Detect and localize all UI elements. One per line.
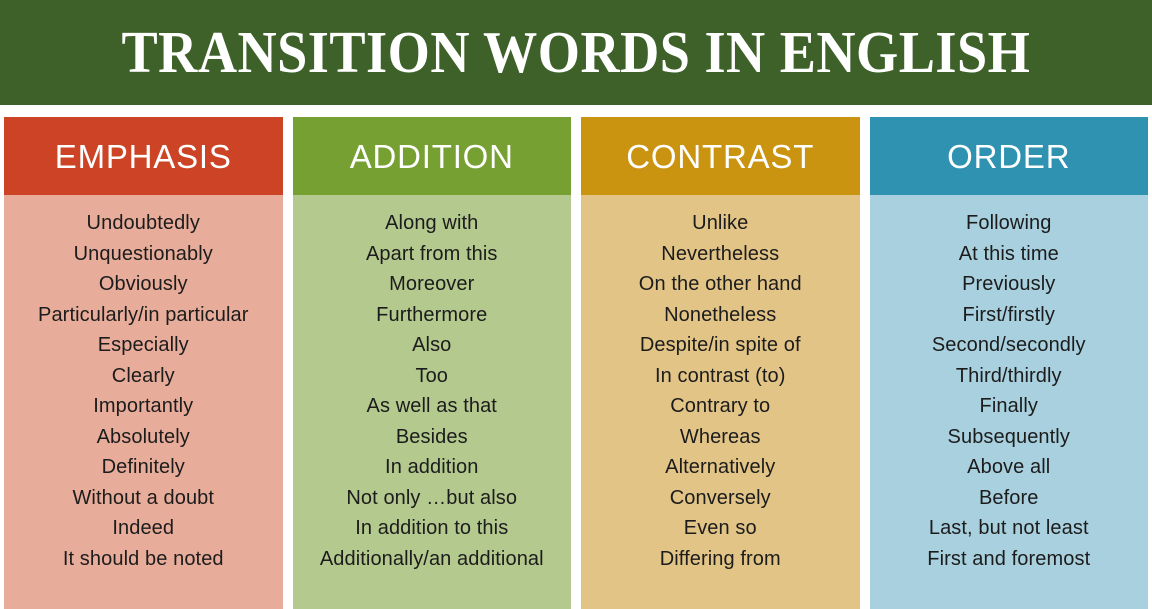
word-item: In contrast (to) [655, 361, 786, 392]
word-item: Undoubtedly [87, 208, 200, 239]
word-item: Third/thirdly [956, 361, 1062, 392]
word-item: Unlike [692, 208, 748, 239]
column-emphasis: EMPHASIS UndoubtedlyUnquestionablyObviou… [4, 117, 283, 609]
column-contrast: CONTRAST UnlikeNeverthelessOn the other … [581, 117, 860, 609]
word-item: Second/secondly [932, 330, 1086, 361]
word-item: Even so [684, 513, 757, 544]
word-item: Moreover [389, 269, 474, 300]
word-item: At this time [959, 239, 1059, 270]
infographic-poster: TRANSITION WORDS IN ENGLISH EMPHASIS Und… [0, 0, 1152, 609]
word-list-addition: Along withApart from thisMoreoverFurther… [293, 195, 572, 609]
word-item: In addition [385, 452, 478, 483]
word-item: Whereas [680, 422, 761, 453]
word-item: Indeed [112, 513, 174, 544]
title-banner: TRANSITION WORDS IN ENGLISH [0, 0, 1152, 105]
column-header-label: CONTRAST [626, 140, 814, 173]
word-item: Especially [98, 330, 189, 361]
column-header-label: ADDITION [350, 140, 514, 173]
word-item: Alternatively [665, 452, 775, 483]
word-item: Unquestionably [74, 239, 213, 270]
word-item: Above all [967, 452, 1050, 483]
word-item: Additionally/an additional [320, 544, 544, 575]
word-item: Subsequently [948, 422, 1070, 453]
word-list-emphasis: UndoubtedlyUnquestionablyObviouslyPartic… [4, 195, 283, 609]
word-item: Not only …but also [346, 483, 517, 514]
column-header-addition: ADDITION [293, 117, 572, 195]
word-item: Too [415, 361, 448, 392]
column-header-contrast: CONTRAST [581, 117, 860, 195]
word-item: Contrary to [670, 391, 770, 422]
column-header-label: ORDER [947, 140, 1070, 173]
word-item: Definitely [102, 452, 185, 483]
page-title: TRANSITION WORDS IN ENGLISH [122, 23, 1031, 82]
word-item: Also [412, 330, 451, 361]
column-header-order: ORDER [870, 117, 1149, 195]
word-item: First and foremost [927, 544, 1090, 575]
word-item: As well as that [367, 391, 497, 422]
column-header-label: EMPHASIS [55, 140, 232, 173]
word-item: Along with [385, 208, 478, 239]
word-item: Conversely [670, 483, 771, 514]
word-item: Before [979, 483, 1039, 514]
word-item: Absolutely [97, 422, 190, 453]
word-item: Following [966, 208, 1051, 239]
word-item: Finally [980, 391, 1039, 422]
word-list-contrast: UnlikeNeverthelessOn the other handNonet… [581, 195, 860, 609]
word-item: Clearly [112, 361, 175, 392]
word-item: In addition to this [355, 513, 508, 544]
word-item: Without a doubt [72, 483, 214, 514]
word-item: Nevertheless [661, 239, 779, 270]
word-item: Nonetheless [664, 300, 776, 331]
word-item: Besides [396, 422, 468, 453]
word-item: Obviously [99, 269, 188, 300]
column-header-emphasis: EMPHASIS [4, 117, 283, 195]
word-list-order: FollowingAt this timePreviouslyFirst/fir… [870, 195, 1149, 609]
category-columns: EMPHASIS UndoubtedlyUnquestionablyObviou… [0, 117, 1152, 609]
word-item: Apart from this [366, 239, 498, 270]
word-item: On the other hand [639, 269, 802, 300]
word-item: Importantly [93, 391, 193, 422]
word-item: Differing from [660, 544, 781, 575]
word-item: Particularly/in particular [38, 300, 248, 331]
column-order: ORDER FollowingAt this timePreviouslyFir… [870, 117, 1149, 609]
word-item: Furthermore [376, 300, 487, 331]
word-item: First/firstly [963, 300, 1055, 331]
word-item: Despite/in spite of [640, 330, 801, 361]
word-item: Previously [962, 269, 1055, 300]
column-addition: ADDITION Along withApart from thisMoreov… [293, 117, 572, 609]
word-item: Last, but not least [929, 513, 1089, 544]
word-item: It should be noted [63, 544, 224, 575]
